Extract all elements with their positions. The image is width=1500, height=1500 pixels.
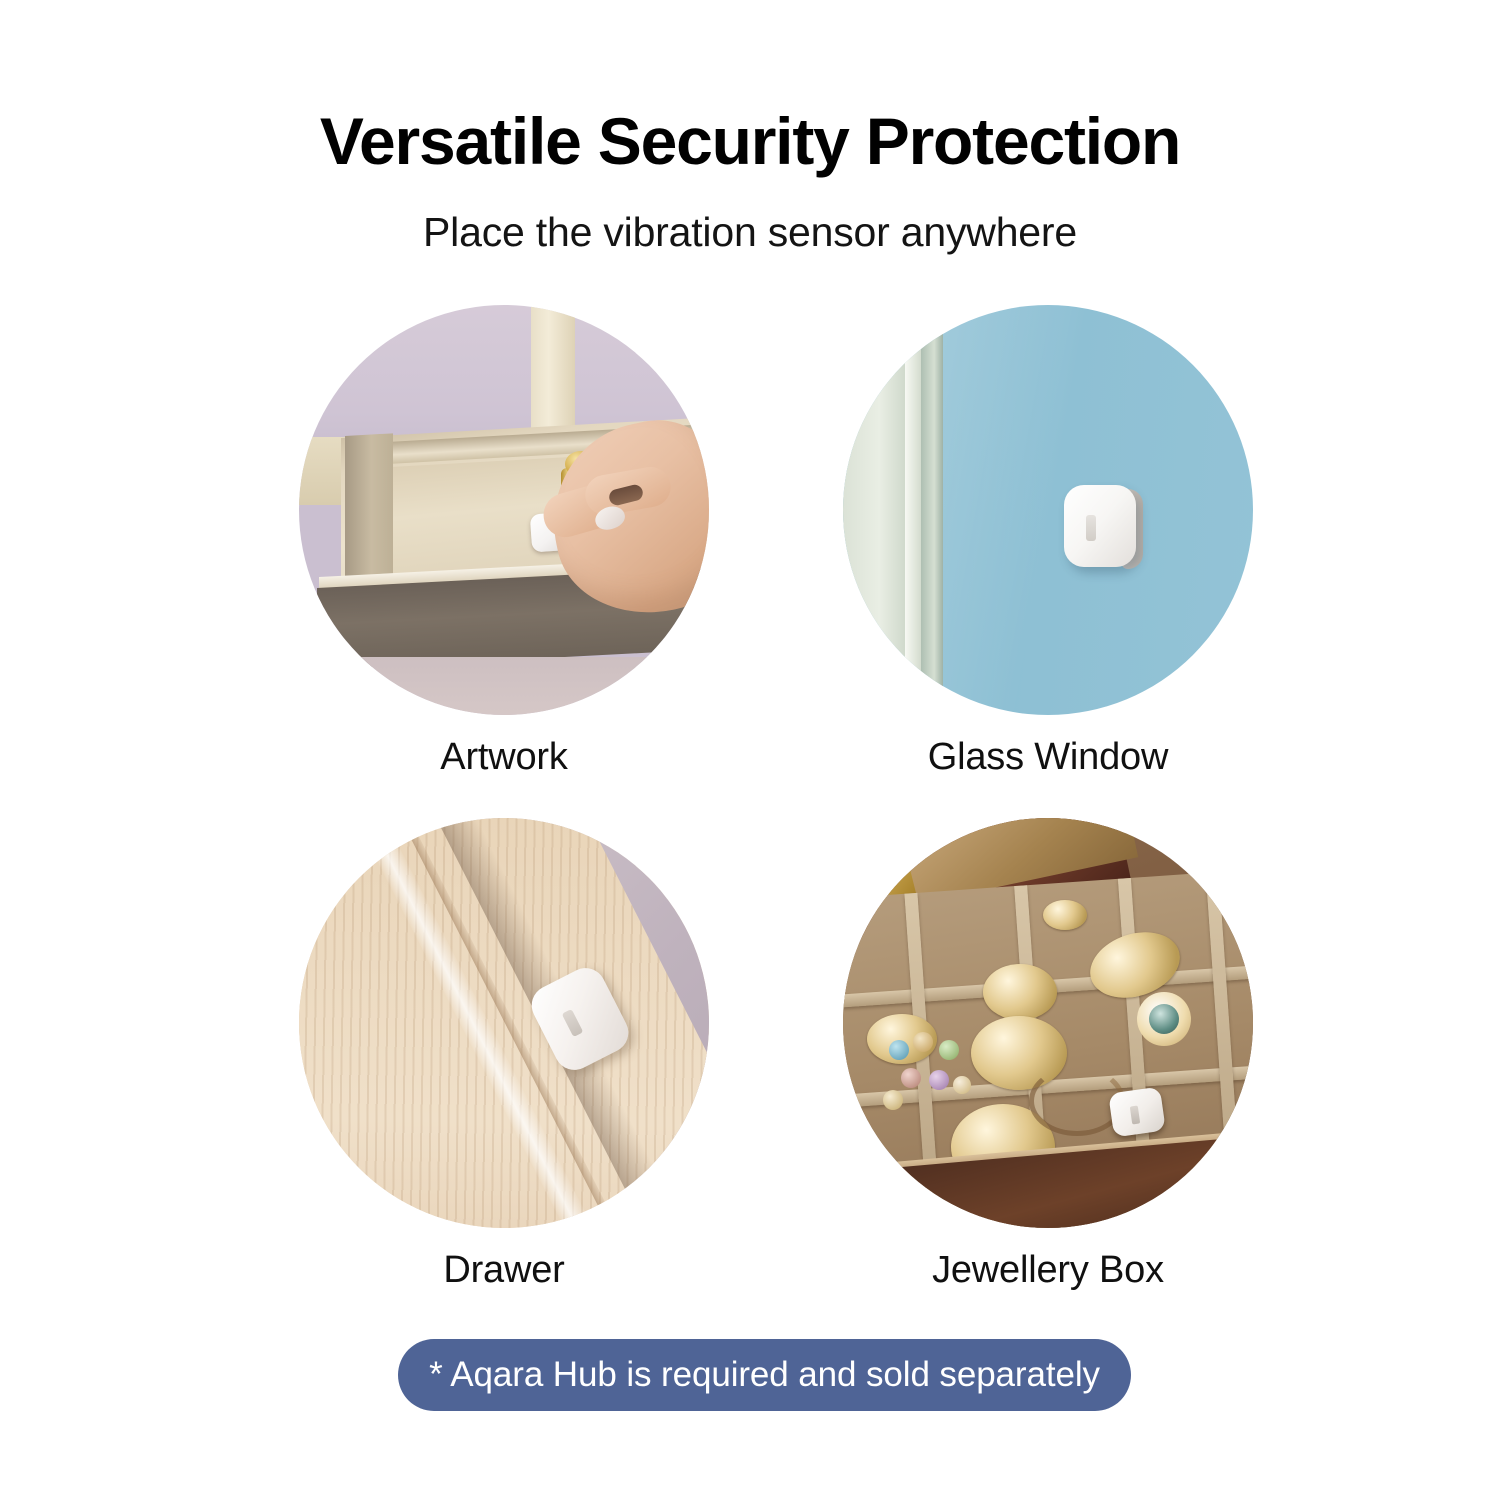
photo-jewellery-box [843, 818, 1253, 1228]
scene-card-glass-window: Glass Window [843, 305, 1253, 781]
floor-surface [299, 657, 709, 715]
bead [901, 1068, 921, 1088]
page-title: Versatile Security Protection [0, 104, 1500, 178]
jewellery-item [983, 964, 1057, 1020]
scene-card-jewellery-box: Jewellery Box [843, 818, 1253, 1294]
bead [929, 1070, 949, 1090]
gemstone-center [1149, 1004, 1179, 1034]
photo-artwork [299, 305, 709, 715]
photo-glass-window [843, 305, 1253, 715]
footnote-banner: * Aqara Hub is required and sold separat… [398, 1339, 1131, 1411]
jewellery-item [1043, 900, 1087, 930]
infographic-page: Versatile Security Protection Place the … [0, 0, 1500, 1500]
bead [889, 1040, 909, 1060]
window-sash-inner [921, 305, 943, 715]
sensor-indicator [1086, 515, 1096, 541]
scene-caption-jewellery-box: Jewellery Box [843, 1246, 1253, 1294]
bead [883, 1090, 903, 1110]
photo-drawer [299, 818, 709, 1228]
footnote-text: * Aqara Hub is required and sold separat… [429, 1355, 1100, 1395]
bead [939, 1040, 959, 1060]
bead [913, 1032, 933, 1052]
scene-caption-drawer: Drawer [299, 1246, 709, 1294]
scene-caption-artwork: Artwork [299, 733, 709, 781]
scene-card-drawer: Drawer [299, 818, 709, 1294]
scene-caption-glass-window: Glass Window [843, 733, 1253, 781]
page-subtitle: Place the vibration sensor anywhere [0, 206, 1500, 258]
bead [953, 1076, 971, 1094]
frame-left-bar [345, 433, 393, 584]
vibration-sensor [1064, 485, 1136, 567]
window-sash-outer [843, 305, 909, 715]
scene-card-artwork: Artwork [299, 305, 709, 781]
